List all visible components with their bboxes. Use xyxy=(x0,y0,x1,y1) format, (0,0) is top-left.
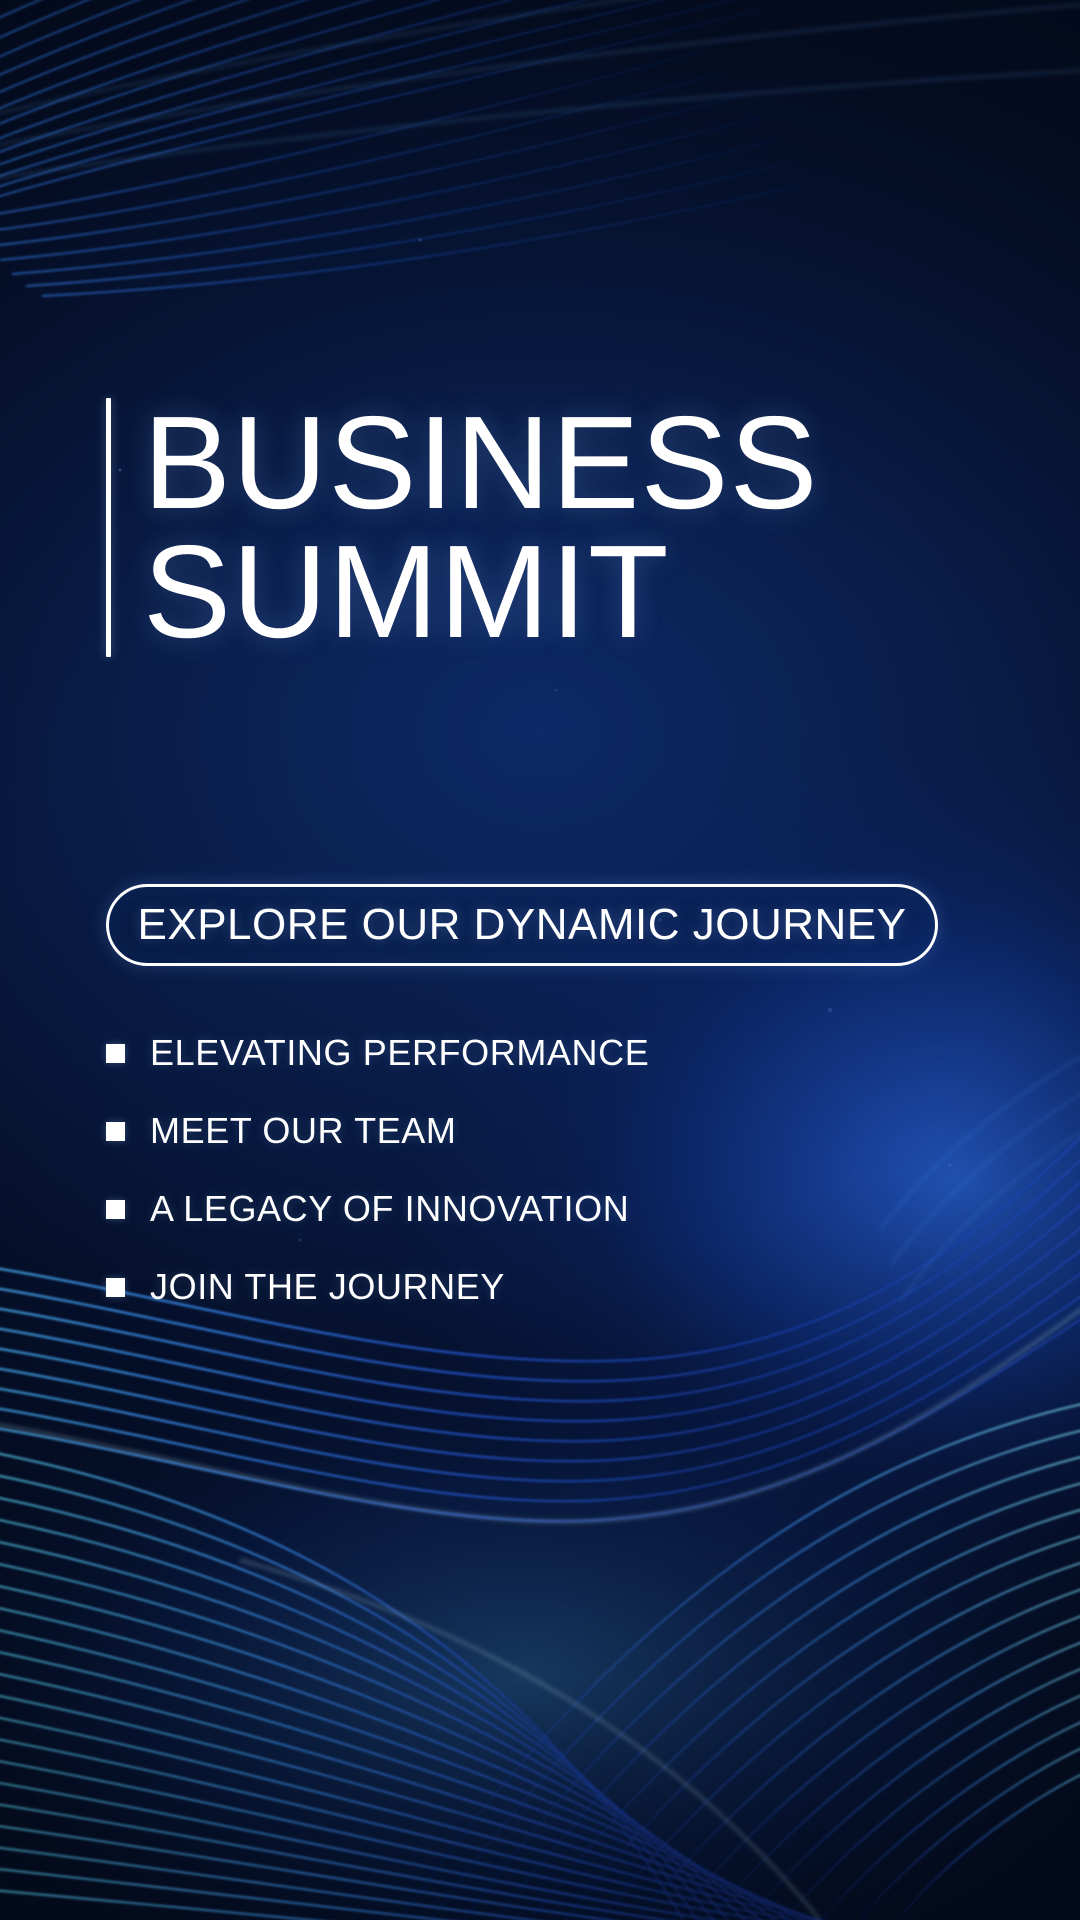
list-item-label: JOIN THE JOURNEY xyxy=(150,1266,505,1308)
explore-journey-button-label: EXPLORE OUR DYNAMIC JOURNEY xyxy=(138,900,907,950)
list-item[interactable]: MEET OUR TEAM xyxy=(106,1092,649,1170)
list-item[interactable]: A LEGACY OF INNOVATION xyxy=(106,1170,649,1248)
title-line-1: BUSINESS xyxy=(143,398,819,527)
poster-root: BUSINESS SUMMIT EXPLORE OUR DYNAMIC JOUR… xyxy=(0,0,1080,1920)
agenda-list: ELEVATING PERFORMANCE MEET OUR TEAM A LE… xyxy=(106,1014,649,1326)
square-bullet-icon xyxy=(106,1122,125,1141)
title-accent-rule xyxy=(106,398,111,657)
square-bullet-icon xyxy=(106,1278,125,1297)
title-lines: BUSINESS SUMMIT xyxy=(143,398,819,657)
list-item-label: MEET OUR TEAM xyxy=(150,1110,457,1152)
content-layer: BUSINESS SUMMIT EXPLORE OUR DYNAMIC JOUR… xyxy=(0,0,1080,1920)
list-item-label: ELEVATING PERFORMANCE xyxy=(150,1032,649,1074)
square-bullet-icon xyxy=(106,1044,125,1063)
square-bullet-icon xyxy=(106,1200,125,1219)
explore-journey-button[interactable]: EXPLORE OUR DYNAMIC JOURNEY xyxy=(106,884,938,966)
page-title: BUSINESS SUMMIT xyxy=(106,398,819,657)
list-item-label: A LEGACY OF INNOVATION xyxy=(150,1188,629,1230)
title-line-2: SUMMIT xyxy=(143,527,819,656)
list-item[interactable]: ELEVATING PERFORMANCE xyxy=(106,1014,649,1092)
list-item[interactable]: JOIN THE JOURNEY xyxy=(106,1248,649,1326)
